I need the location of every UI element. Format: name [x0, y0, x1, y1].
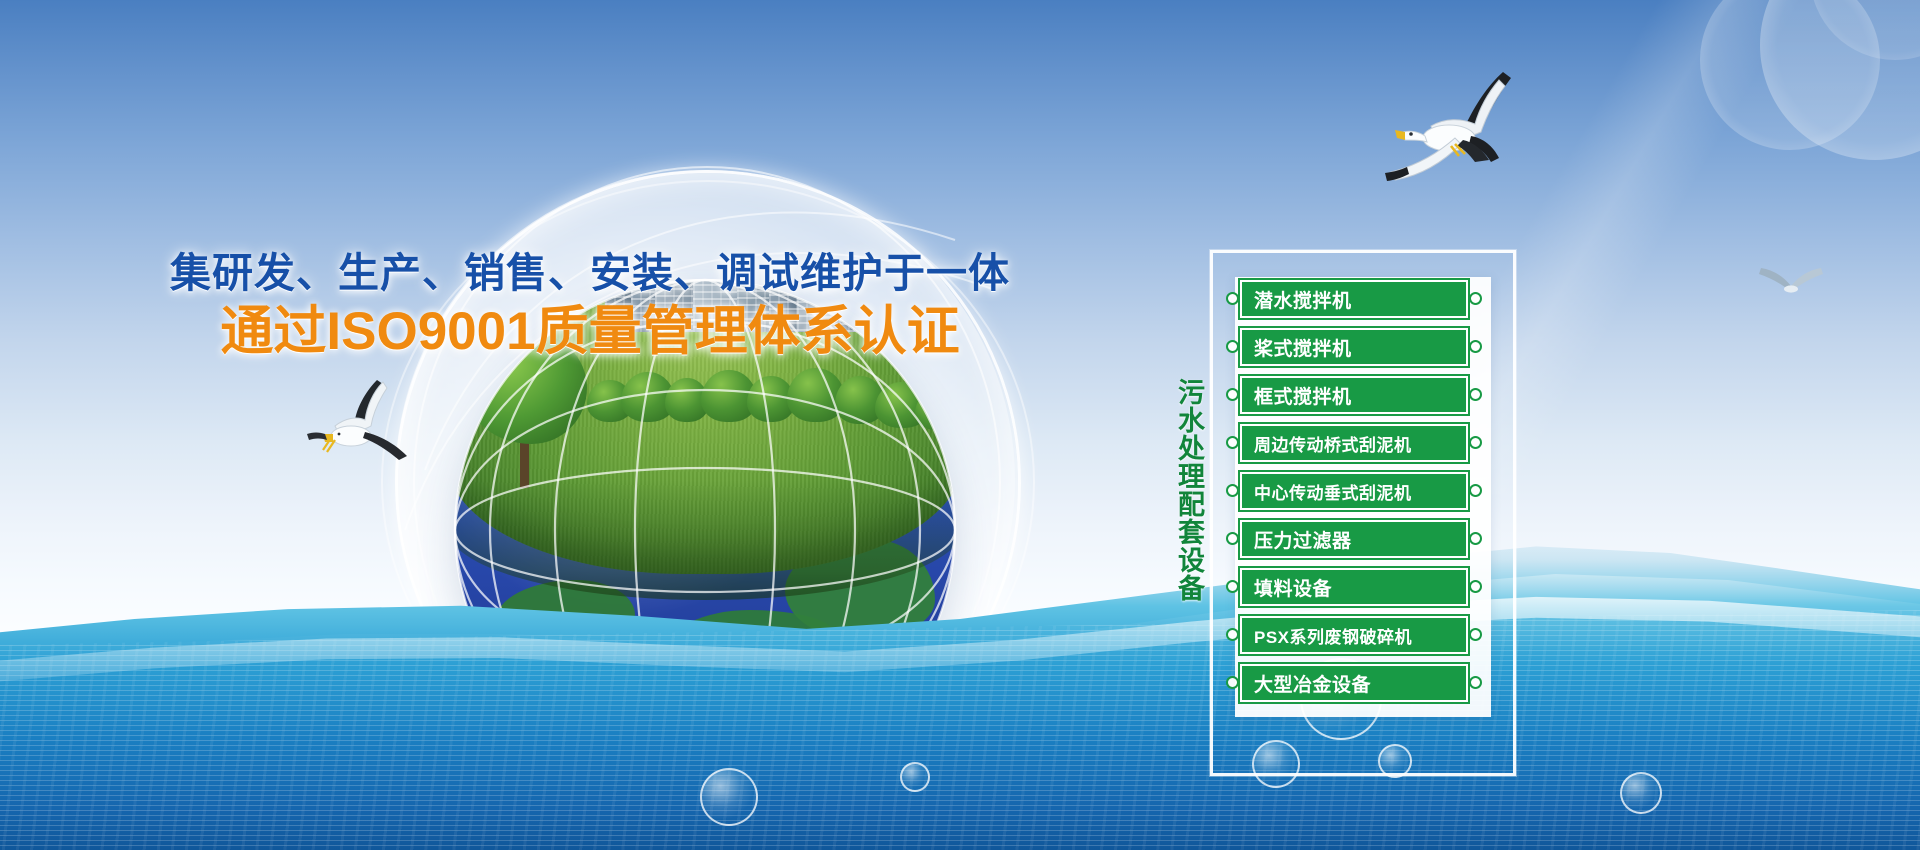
- product-pill[interactable]: 潜水搅拌机: [1240, 280, 1468, 318]
- water-bubble: [900, 762, 930, 792]
- product-label: PSX系列废钢破碎机: [1242, 623, 1412, 648]
- eyelet-right-icon: [1469, 580, 1482, 593]
- list-item[interactable]: 中心传动垂式刮泥机: [1222, 470, 1498, 518]
- list-item[interactable]: PSX系列废钢破碎机: [1222, 614, 1498, 662]
- product-pill[interactable]: 中心传动垂式刮泥机: [1240, 472, 1468, 510]
- product-label: 压力过滤器: [1242, 526, 1352, 553]
- headline-block: 集研发、生产、销售、安装、调试维护于一体 通过ISO9001质量管理体系认证: [0, 248, 1180, 361]
- product-label: 桨式搅拌机: [1242, 334, 1352, 361]
- list-item[interactable]: 潜水搅拌机: [1222, 278, 1498, 326]
- list-item[interactable]: 周边传动桥式刮泥机: [1222, 422, 1498, 470]
- list-item[interactable]: 填料设备: [1222, 566, 1498, 614]
- product-label: 潜水搅拌机: [1242, 286, 1352, 313]
- water-bubble: [1620, 772, 1662, 814]
- product-pill[interactable]: 周边传动桥式刮泥机: [1240, 424, 1468, 462]
- product-label: 大型冶金设备: [1242, 670, 1371, 697]
- seagull-small-icon: [295, 372, 425, 464]
- eyelet-left-icon: [1226, 484, 1239, 497]
- product-label: 中心传动垂式刮泥机: [1242, 479, 1412, 504]
- list-item[interactable]: 压力过滤器: [1222, 518, 1498, 566]
- eyelet-right-icon: [1469, 484, 1482, 497]
- eyelet-left-icon: [1226, 532, 1239, 545]
- eyelet-right-icon: [1469, 388, 1482, 401]
- seagull-large-icon: [1375, 60, 1545, 190]
- product-list[interactable]: 潜水搅拌机 桨式搅拌机 框式搅拌机 周边传动桥式刮泥机: [1222, 278, 1498, 710]
- seagull-tiny-icon: [1755, 262, 1827, 306]
- eyelet-right-icon: [1469, 436, 1482, 449]
- eyelet-right-icon: [1469, 292, 1482, 305]
- product-pill[interactable]: PSX系列废钢破碎机: [1240, 616, 1468, 654]
- eyelet-left-icon: [1226, 580, 1239, 593]
- eyelet-left-icon: [1226, 436, 1239, 449]
- eyelet-right-icon: [1469, 676, 1482, 689]
- product-pill[interactable]: 桨式搅拌机: [1240, 328, 1468, 366]
- list-item[interactable]: 桨式搅拌机: [1222, 326, 1498, 374]
- list-item[interactable]: 框式搅拌机: [1222, 374, 1498, 422]
- panel-vertical-label: 污水处理配套设备: [1168, 378, 1202, 602]
- headline-line-2: 通过ISO9001质量管理体系认证: [0, 302, 1180, 361]
- product-pill[interactable]: 填料设备: [1240, 568, 1468, 606]
- eyelet-right-icon: [1469, 628, 1482, 641]
- product-pill[interactable]: 压力过滤器: [1240, 520, 1468, 558]
- water-bubble: [700, 768, 758, 826]
- product-pill[interactable]: 框式搅拌机: [1240, 376, 1468, 414]
- list-item[interactable]: 大型冶金设备: [1222, 662, 1498, 710]
- product-label: 填料设备: [1242, 574, 1332, 601]
- promo-banner: 集研发、生产、销售、安装、调试维护于一体 通过ISO9001质量管理体系认证 污…: [0, 0, 1920, 850]
- product-label: 周边传动桥式刮泥机: [1242, 431, 1412, 456]
- eyelet-left-icon: [1226, 388, 1239, 401]
- product-pill[interactable]: 大型冶金设备: [1240, 664, 1468, 702]
- headline-line-1: 集研发、生产、销售、安装、调试维护于一体: [0, 248, 1180, 298]
- eyelet-left-icon: [1226, 340, 1239, 353]
- eyelet-right-icon: [1469, 532, 1482, 545]
- product-label: 框式搅拌机: [1242, 382, 1352, 409]
- eyelet-left-icon: [1226, 292, 1239, 305]
- eyelet-right-icon: [1469, 340, 1482, 353]
- eyelet-left-icon: [1226, 628, 1239, 641]
- eyelet-left-icon: [1226, 676, 1239, 689]
